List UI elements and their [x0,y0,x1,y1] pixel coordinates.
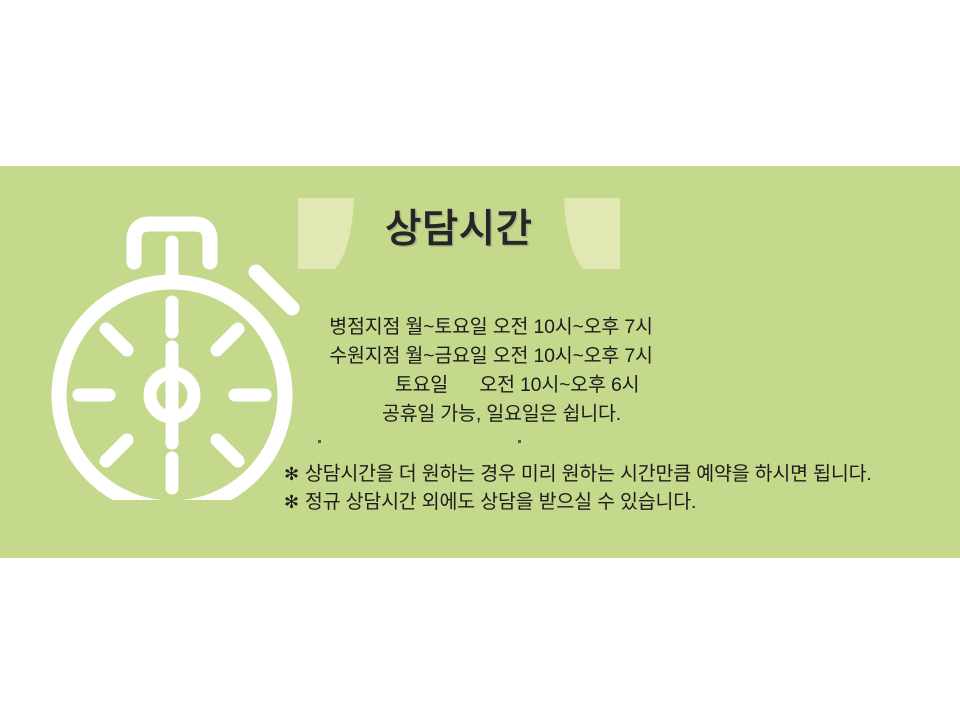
footnote-text: 상담시간을 더 원하는 경우 미리 원하는 시간만큼 예약을 하시면 됩니다. [305,463,872,485]
stopwatch-tick-0130 [217,329,238,350]
footnote-line: ✻정규 상담시간 외에도 상담을 받으실 수 있습니다. [284,488,934,516]
hours-line: 공휴일 가능, 일요일은 쉽니다. [243,400,739,429]
stopwatch-tick-0430 [217,440,238,461]
title-banner: 상담시간 [298,198,620,269]
stopwatch-tick-0730 [106,440,127,461]
footnote-asterisk-icon: ✻ [284,488,299,516]
hours-line: 토요일 오전 10시~오후 6시 [243,371,739,400]
footnote-line: ✻상담시간을 더 원하는 경우 미리 원하는 시간만큼 예약을 하시면 됩니다. [284,460,934,488]
artifact-dot [518,440,521,443]
hours-line: 병점지점 월~토요일 오전 10시~오후 7시 [243,313,739,342]
stopwatch-speed-line [256,272,292,308]
page-title: 상담시간 [298,198,620,262]
footnote-text: 정규 상담시간 외에도 상담을 받으실 수 있습니다. [305,491,696,513]
stopwatch-tick-1030 [106,329,127,350]
footnote-asterisk-icon: ✻ [284,460,299,488]
footnotes-list: ✻상담시간을 더 원하는 경우 미리 원하는 시간만큼 예약을 하시면 됩니다.… [284,460,934,516]
consultation-hours-list: 병점지점 월~토요일 오전 10시~오후 7시 수원지점 월~금요일 오전 10… [243,313,739,429]
artifact-dot [318,440,321,443]
hours-line: 수원지점 월~금요일 오전 10시~오후 7시 [243,342,739,371]
